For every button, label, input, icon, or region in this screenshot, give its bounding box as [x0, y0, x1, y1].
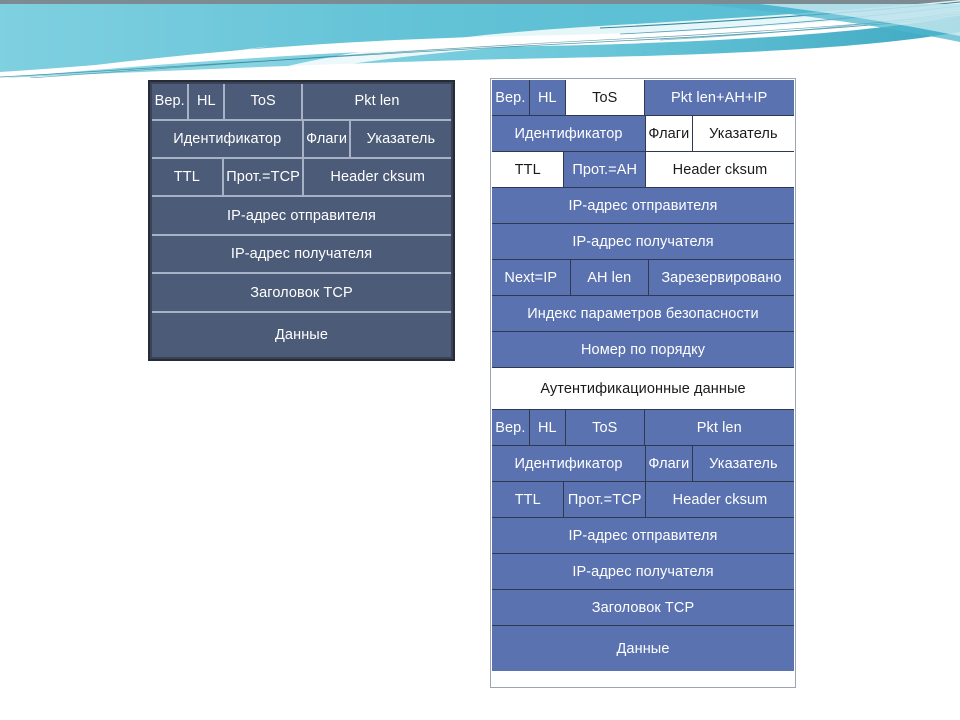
- packet-row: Вер.HLToSPkt len: [492, 410, 794, 446]
- packet-row: IP-адрес отправителя: [492, 188, 794, 224]
- packet-field-ip-word-2-1: Флаги: [304, 121, 350, 157]
- packet-field-inner-ip-word-2-0: Идентификатор: [492, 446, 646, 481]
- packet-field-outer-ip-word-3-2: Header cksum: [646, 152, 794, 187]
- wave-graphic: [0, 0, 960, 78]
- packet-field-inner-ip-word-2-2: Указатель: [693, 446, 794, 481]
- packet-row: TTLПрот.=AHHeader cksum: [492, 152, 794, 188]
- packet-field-ah-sequence-number-0: Номер по порядку: [492, 332, 794, 367]
- packet-field-outer-ip-word-2-0: Идентификатор: [492, 116, 646, 151]
- packet-row: Данные: [492, 626, 794, 671]
- packet-field-ah-word-1-2: Зарезервировано: [649, 260, 794, 295]
- packet-field-inner-ip-word-1-1: HL: [530, 410, 566, 445]
- slide-canvas: Вер.HLToSPkt lenИдентификаторФлагиУказат…: [0, 0, 960, 720]
- packet-row: IP-адрес получателя: [152, 236, 451, 274]
- packet-row: ИдентификаторФлагиУказатель: [492, 116, 794, 152]
- packet-field-ip-word-2-2: Указатель: [351, 121, 451, 157]
- packet-diagram-ip-ah: Вер.HLToSPkt len+AH+IPИдентификаторФлаги…: [490, 78, 796, 688]
- packet-row: Заголовок TCP: [152, 274, 451, 312]
- packet-row: IP-адрес получателя: [492, 554, 794, 590]
- packet-row: Индекс параметров безопасности: [492, 296, 794, 332]
- packet-field-outer-ip-destination-address-0: IP-адрес получателя: [492, 224, 794, 259]
- packet-row: ИдентификаторФлагиУказатель: [492, 446, 794, 482]
- packet-row: IP-адрес получателя: [492, 224, 794, 260]
- packet-field-ip-source-address-0: IP-адрес отправителя: [152, 197, 451, 233]
- packet-field-inner-tcp-header-0: Заголовок TCP: [492, 590, 794, 625]
- packet-field-inner-ip-word-1-0: Вер.: [492, 410, 530, 445]
- packet-field-outer-ip-word-1-2: ToS: [566, 80, 645, 115]
- packet-field-outer-ip-source-address-0: IP-адрес отправителя: [492, 188, 794, 223]
- packet-field-ip-word-3-2: Header cksum: [304, 159, 451, 195]
- packet-field-ip-word-3-1: Прот.=TCP: [224, 159, 305, 195]
- packet-field-outer-ip-word-1-3: Pkt len+AH+IP: [645, 80, 794, 115]
- packet-row: Next=IPAH lenЗарезервировано: [492, 260, 794, 296]
- packet-field-ip-word-1-3: Pkt len: [303, 84, 451, 119]
- packet-field-outer-ip-word-3-1: Прот.=AH: [564, 152, 646, 187]
- packet-row: Вер.HLToSPkt len+AH+IP: [492, 80, 794, 116]
- packet-field-inner-ip-word-3-2: Header cksum: [646, 482, 794, 517]
- packet-row: IP-адрес отправителя: [152, 197, 451, 235]
- packet-field-outer-ip-word-2-2: Указатель: [693, 116, 794, 151]
- packet-field-inner-ip-word-1-3: Pkt len: [645, 410, 794, 445]
- packet-field-ip-word-1-0: Вер.: [152, 84, 189, 119]
- packet-field-outer-ip-word-1-0: Вер.: [492, 80, 530, 115]
- packet-row: TTLПрот.=TCPHeader cksum: [492, 482, 794, 518]
- packet-field-ah-word-1-0: Next=IP: [492, 260, 571, 295]
- packet-field-inner-ip-destination-address-0: IP-адрес получателя: [492, 554, 794, 589]
- packet-field-outer-ip-word-1-1: HL: [530, 80, 566, 115]
- packet-field-inner-ip-word-1-2: ToS: [566, 410, 645, 445]
- packet-field-outer-ip-word-3-0: TTL: [492, 152, 564, 187]
- packet-row: IP-адрес отправителя: [492, 518, 794, 554]
- packet-field-outer-ip-word-2-1: Флаги: [646, 116, 693, 151]
- packet-field-ip-word-1-2: ToS: [225, 84, 303, 119]
- packet-row: TTLПрот.=TCPHeader cksum: [152, 159, 451, 197]
- packet-diagram-plain-ip: Вер.HLToSPkt lenИдентификаторФлагиУказат…: [148, 80, 455, 361]
- decorative-wave-banner: [0, 0, 960, 78]
- packet-row: ИдентификаторФлагиУказатель: [152, 121, 451, 159]
- packet-field-inner-ip-word-3-1: Прот.=TCP: [564, 482, 646, 517]
- packet-row: Вер.HLToSPkt len: [152, 84, 451, 121]
- packet-field-ip-destination-address-0: IP-адрес получателя: [152, 236, 451, 272]
- packet-field-inner-ip-source-address-0: IP-адрес отправителя: [492, 518, 794, 553]
- packet-field-ah-security-parameters-index-0: Индекс параметров безопасности: [492, 296, 794, 331]
- packet-field-ah-word-1-1: AH len: [571, 260, 650, 295]
- packet-field-inner-payload-data-0: Данные: [492, 626, 794, 671]
- packet-row: Номер по порядку: [492, 332, 794, 368]
- packet-field-payload-data-0: Данные: [152, 313, 451, 357]
- packet-field-ip-word-3-0: TTL: [152, 159, 224, 195]
- packet-row: Данные: [152, 313, 451, 357]
- packet-field-ip-word-2-0: Идентификатор: [152, 121, 304, 157]
- packet-row: Заголовок TCP: [492, 590, 794, 626]
- packet-row: Аутентификационные данные: [492, 368, 794, 410]
- packet-field-tcp-header-0: Заголовок TCP: [152, 274, 451, 310]
- packet-field-inner-ip-word-3-0: TTL: [492, 482, 564, 517]
- packet-field-ip-word-1-1: HL: [189, 84, 225, 119]
- packet-field-inner-ip-word-2-1: Флаги: [646, 446, 693, 481]
- packet-field-ah-authentication-data-0: Аутентификационные данные: [492, 368, 794, 409]
